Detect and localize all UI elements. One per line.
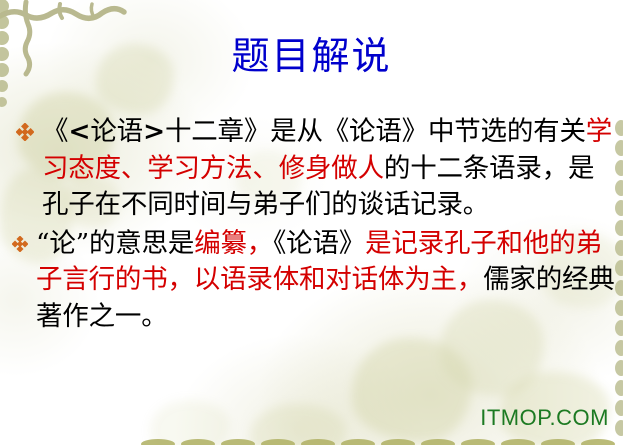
text-run: 《论语》 (273, 228, 365, 259)
text-run: 《 (42, 116, 68, 147)
bullet-paragraph: 《<论语>十二章》是从《论语》中节选的有关学习态度、学习方法、修身做人的十二条语… (8, 114, 615, 224)
diamond-bullet-icon (16, 123, 34, 141)
floral-blob (352, 338, 472, 442)
slide-title: 题目解说 (0, 36, 623, 78)
floral-blob (250, 404, 346, 445)
diamond-bullet-icon (12, 236, 28, 252)
bullet-paragraph: “论”的意思是编纂，《论语》是记录孔子和他的弟子言行的书，以语录体和对话体为主，… (8, 226, 615, 336)
slide-body: 《<论语>十二章》是从《论语》中节选的有关学习态度、学习方法、修身做人的十二条语… (8, 114, 615, 337)
floral-blob (150, 400, 230, 445)
site-watermark: ITMOP.COM (480, 405, 609, 431)
text-run-highlight: 编纂， (194, 228, 273, 259)
text-run: 十二章》是从《论语》中节选的有关 (165, 116, 586, 147)
text-run: > (143, 116, 165, 147)
bottom-scallop-border (140, 429, 623, 445)
presentation-slide: 题目解说 《<论语>十二章》是从《论语》中节选的有关学习态度、学习方法、修身做人… (0, 0, 623, 445)
text-run: < (68, 116, 90, 147)
text-run: 论语 (90, 116, 143, 147)
text-run: “论”的意思是 (36, 228, 194, 259)
